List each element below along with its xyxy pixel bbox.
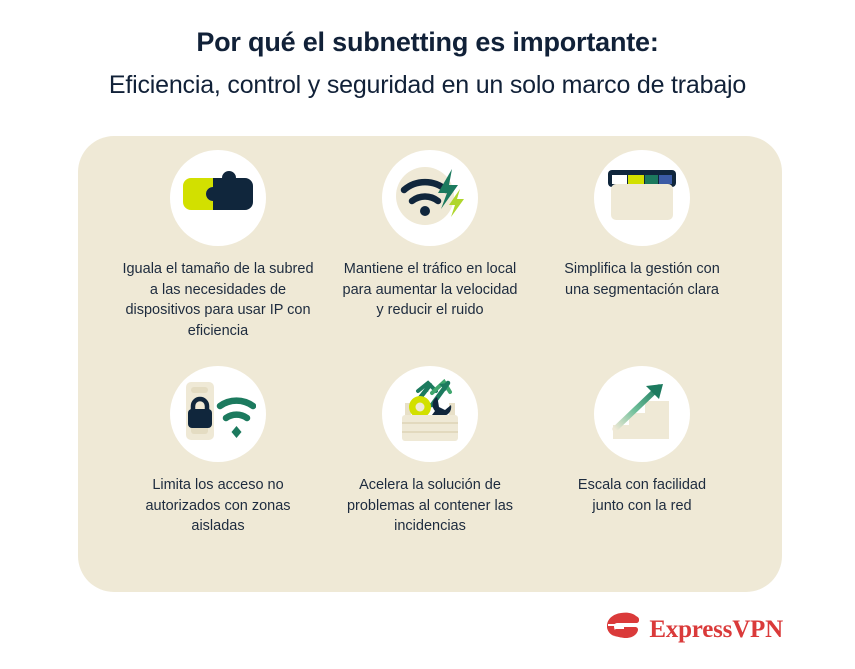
segmented-window-icon: [605, 167, 679, 230]
benefit-icon-container: [382, 366, 478, 462]
lock-wifi-icon: [180, 380, 256, 449]
page-title: Por qué el subnetting es importante: Efi…: [0, 0, 855, 101]
benefit-card: Limita los acceso no autorizados con zon…: [112, 366, 324, 582]
benefit-caption: Limita los acceso no autorizados con zon…: [119, 475, 317, 537]
toolbox-gear-wrench-icon: [394, 379, 466, 450]
benefits-grid: Iguala el tamaño de la subred a las nece…: [78, 136, 782, 592]
stairs-arrow-up-icon: [609, 381, 675, 448]
benefit-icon-container: [382, 150, 478, 246]
puzzle-pieces-icon: [179, 166, 257, 231]
expressvpn-wordmark: ExpressVPN: [649, 616, 783, 644]
benefit-card: Mantiene el tráfico en local para aument…: [324, 150, 536, 366]
benefit-card: Iguala el tamaño de la subred a las nece…: [112, 150, 324, 366]
benefit-caption: Simplifica la gestión con una segmentaci…: [562, 259, 722, 300]
benefit-caption: Iguala el tamaño de la subred a las nece…: [119, 259, 317, 341]
benefit-caption: Escala con facilidad junto con la red: [562, 475, 722, 516]
benefit-card: Simplifica la gestión con una segmentaci…: [536, 150, 748, 366]
benefit-caption: Acelera la solución de problemas al cont…: [338, 475, 523, 537]
expressvpn-e-mark-icon: [606, 612, 640, 647]
expressvpn-logo: ExpressVPN: [606, 612, 783, 647]
wifi-lightning-icon: [392, 163, 468, 234]
benefit-card: Escala con facilidad junto con la red: [536, 366, 748, 582]
benefits-panel: Iguala el tamaño de la subred a las nece…: [78, 136, 782, 592]
benefit-icon-container: [170, 150, 266, 246]
benefit-card: Acelera la solución de problemas al cont…: [324, 366, 536, 582]
benefit-caption: Mantiene el tráfico en local para aument…: [338, 259, 523, 321]
title-line-secondary: Eficiencia, control y seguridad en un so…: [0, 69, 855, 102]
title-line-primary: Por qué el subnetting es importante:: [0, 26, 855, 60]
benefit-icon-container: [594, 366, 690, 462]
benefit-icon-container: [594, 150, 690, 246]
benefit-icon-container: [170, 366, 266, 462]
